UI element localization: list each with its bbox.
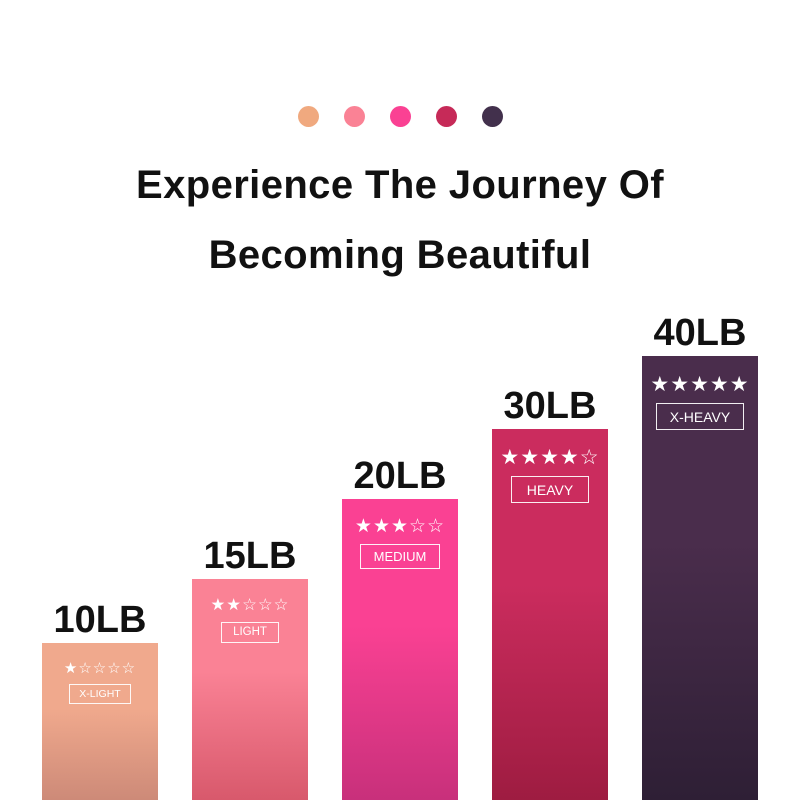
bar-weight-label-40lb: 40LB xyxy=(642,312,758,354)
bar-weight-label-30lb: 30LB xyxy=(492,385,608,427)
level-badge-x-heavy: X-HEAVY xyxy=(656,403,744,430)
bar-content-10lb: ★☆☆☆☆X-LIGHT xyxy=(42,661,158,704)
bar-content-15lb: ★★☆☆☆LIGHT xyxy=(192,597,308,643)
rating-stars-10lb: ★☆☆☆☆ xyxy=(64,661,136,676)
bar-group-10lb: 10LB★☆☆☆☆X-LIGHT xyxy=(42,595,158,800)
level-badge-light: LIGHT xyxy=(221,622,279,643)
bar-weight-label-10lb: 10LB xyxy=(42,599,158,641)
product-infographic: Experience The Journey Of Becoming Beaut… xyxy=(0,0,800,800)
bar-weight-label-15lb: 15LB xyxy=(192,535,308,577)
bar-15lb: ★★☆☆☆LIGHT xyxy=(192,579,308,800)
bar-group-15lb: 15LB★★☆☆☆LIGHT xyxy=(192,531,308,800)
resistance-band-bar-chart: 10LB★☆☆☆☆X-LIGHT15LB★★☆☆☆LIGHT20LB★★★☆☆M… xyxy=(0,0,800,800)
bar-group-20lb: 20LB★★★☆☆MEDIUM xyxy=(342,451,458,800)
bar-content-30lb: ★★★★☆HEAVY xyxy=(492,447,608,503)
rating-stars-30lb: ★★★★☆ xyxy=(500,447,599,468)
bar-weight-label-20lb: 20LB xyxy=(342,455,458,497)
rating-stars-40lb: ★★★★★ xyxy=(650,374,749,395)
level-badge-heavy: HEAVY xyxy=(511,476,589,503)
bar-content-20lb: ★★★☆☆MEDIUM xyxy=(342,517,458,569)
bar-20lb: ★★★☆☆MEDIUM xyxy=(342,499,458,800)
bar-group-40lb: 40LB★★★★★X-HEAVY xyxy=(642,308,758,800)
rating-stars-20lb: ★★★☆☆ xyxy=(355,517,445,536)
bar-40lb: ★★★★★X-HEAVY xyxy=(642,356,758,800)
rating-stars-15lb: ★★☆☆☆ xyxy=(211,597,290,614)
bar-30lb: ★★★★☆HEAVY xyxy=(492,429,608,800)
bar-content-40lb: ★★★★★X-HEAVY xyxy=(642,374,758,430)
level-badge-medium: MEDIUM xyxy=(360,544,441,569)
bar-10lb: ★☆☆☆☆X-LIGHT xyxy=(42,643,158,800)
bar-group-30lb: 30LB★★★★☆HEAVY xyxy=(492,381,608,800)
level-badge-x-light: X-LIGHT xyxy=(69,684,130,704)
